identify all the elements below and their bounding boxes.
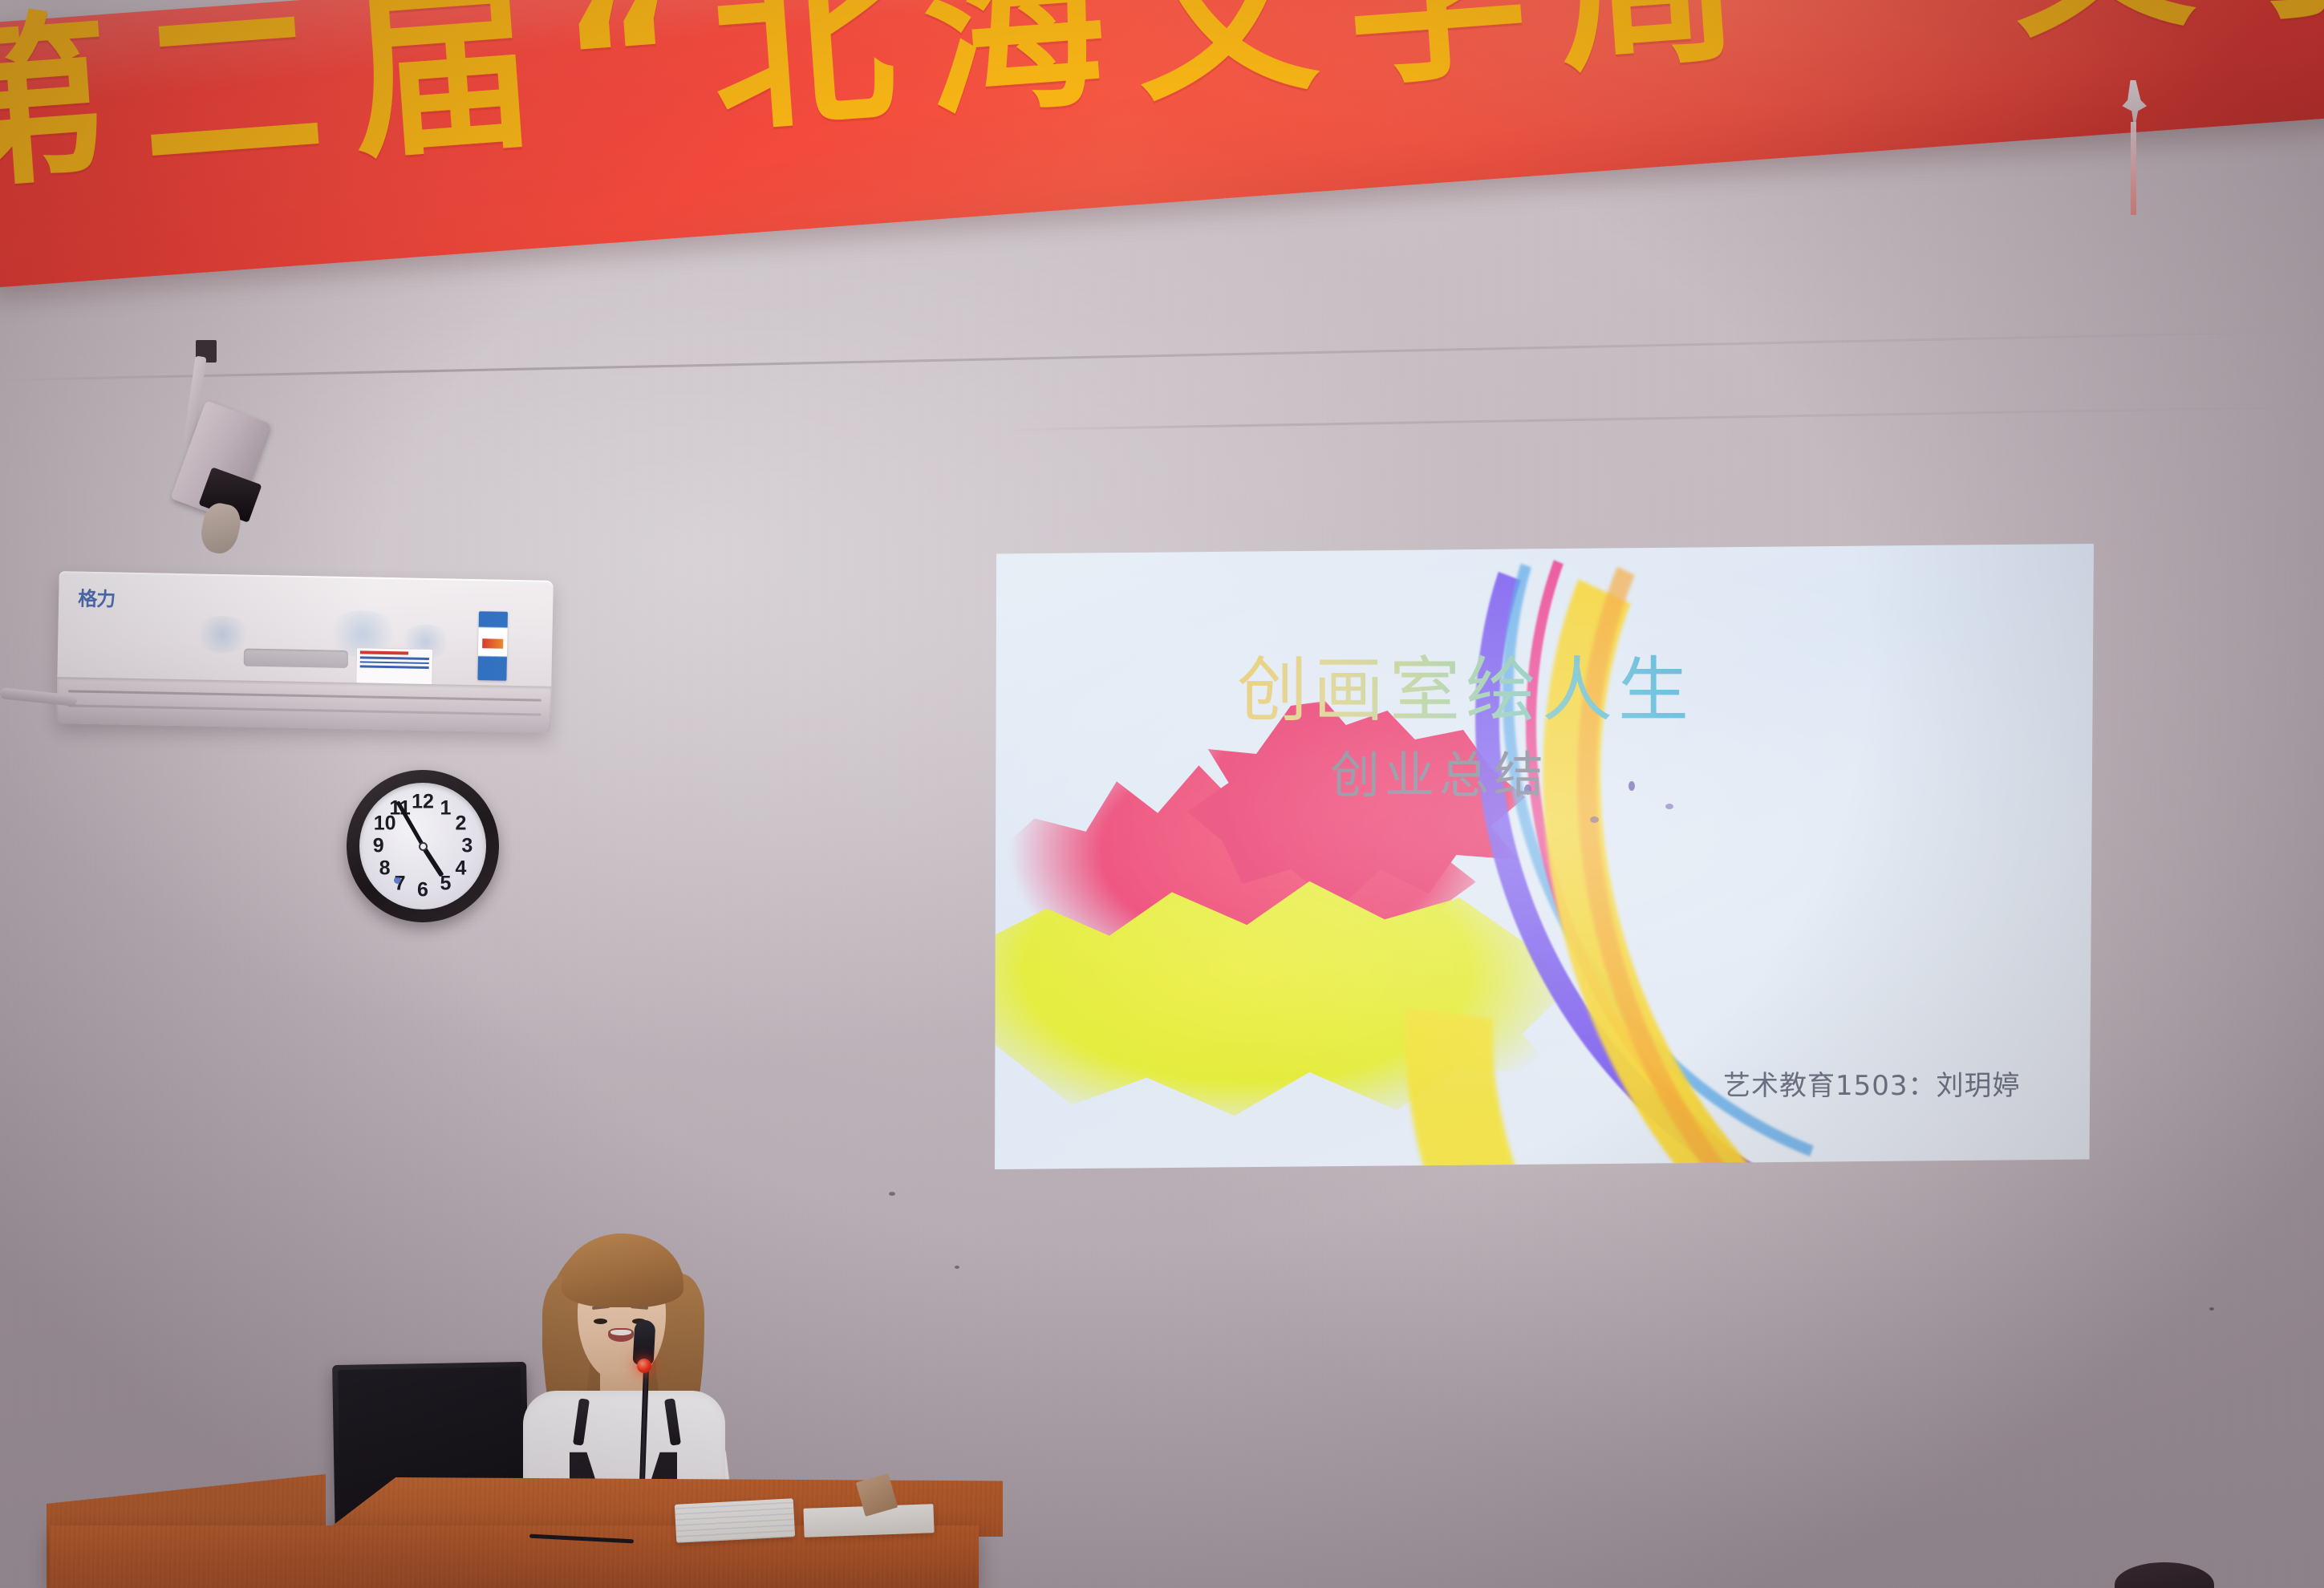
clock-numeral-5: 5 xyxy=(440,873,451,896)
slide-art-speck-4 xyxy=(1665,804,1673,809)
clock-numeral-2: 2 xyxy=(455,812,466,835)
ac-air-outlet xyxy=(56,677,551,733)
slide-subtitle: 创业总结 xyxy=(1330,735,1548,807)
presentation-slide: 创画室绘人生 创业总结 艺术教育1503：刘玥婷 xyxy=(995,544,2094,1169)
presenter-eye-left xyxy=(594,1319,607,1324)
clock-numeral-8: 8 xyxy=(379,857,391,881)
wall-speck-2 xyxy=(955,1266,959,1269)
clock-face-mark xyxy=(394,877,401,884)
slide-art-speck-3 xyxy=(1590,816,1599,823)
projection-screen: 创画室绘人生 创业总结 艺术教育1503：刘玥婷 xyxy=(995,544,2094,1169)
wall-speck-3 xyxy=(2209,1307,2214,1311)
ac-louver-2 xyxy=(68,704,541,715)
clock-face: 12 1 2 3 4 5 6 7 8 9 10 11 xyxy=(359,783,486,909)
ac-energy-label xyxy=(477,611,508,681)
presenter-mouth xyxy=(608,1328,634,1342)
wall-hook-tail xyxy=(2131,122,2136,215)
presenter-hair-fringe xyxy=(562,1234,683,1307)
clock-numeral-3: 3 xyxy=(461,835,473,858)
clock-center-pin xyxy=(419,842,428,851)
podium-papers xyxy=(675,1498,795,1543)
wall-speck-1 xyxy=(889,1192,895,1196)
ac-warning-sticker xyxy=(355,647,433,687)
microphone-led-indicator xyxy=(637,1359,651,1373)
clock-numeral-1: 1 xyxy=(440,796,451,820)
clock-numeral-9: 9 xyxy=(373,835,384,858)
ac-display-panel xyxy=(244,649,348,668)
ac-louver-1 xyxy=(68,690,541,701)
lecture-hall-photo: 第二届“北海文学周” 文学进 格力 12 1 2 3 4 xyxy=(0,0,2324,1588)
ac-smudge-1 xyxy=(193,615,253,653)
clock-numeral-4: 4 xyxy=(455,857,466,881)
podium-paper-lines xyxy=(675,1498,795,1543)
wall-clock: 12 1 2 3 4 5 6 7 8 9 10 11 xyxy=(347,770,499,922)
slide-title: 创画室绘人生 xyxy=(1237,634,1694,735)
clock-numeral-12: 12 xyxy=(412,790,434,813)
ac-brand-logo: 格力 xyxy=(78,583,116,612)
air-conditioner: 格力 xyxy=(56,571,554,733)
clock-numeral-6: 6 xyxy=(417,879,428,902)
slide-art-speck-2 xyxy=(1628,781,1635,791)
slide-author: 艺术教育1503：刘玥婷 xyxy=(1723,1063,2021,1103)
